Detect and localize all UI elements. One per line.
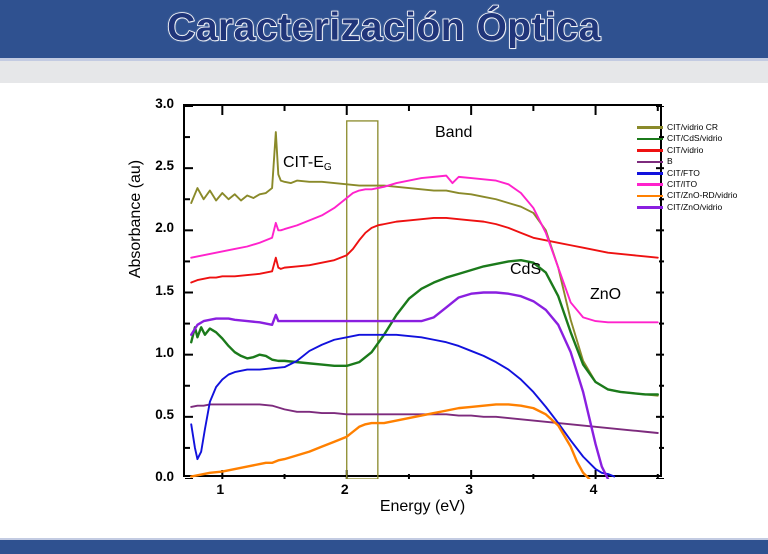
legend-item: CIT/FTO xyxy=(637,168,737,179)
legend-item-label: CIT/ZnO-RD/vidrio xyxy=(667,190,737,201)
absorbance-chart: Absorbance (au) Energy (eV) CIT-EG Band … xyxy=(108,90,708,530)
x-axis-label: Energy (eV) xyxy=(183,498,662,516)
header-grey-band xyxy=(0,61,768,83)
annotation-cds: CdS xyxy=(510,261,541,279)
annotation-band: Band xyxy=(435,124,472,142)
page-title: Caracterización Óptica xyxy=(0,2,768,54)
chart-legend: CIT/vidrio CRCIT/CdS/vidrioCIT/vidrioBCI… xyxy=(637,122,737,213)
x-tick-label: 4 xyxy=(579,481,609,497)
legend-item-label: CIT/CdS/vidrio xyxy=(667,133,722,144)
x-tick-label: 3 xyxy=(454,481,484,497)
annotation-cit-eg: CIT-EG xyxy=(283,154,332,172)
y-tick-label: 1.0 xyxy=(132,345,174,360)
annotation-cit-eg-subscript: G xyxy=(324,162,332,173)
y-tick-label: 3.0 xyxy=(132,96,174,111)
legend-color-swatch xyxy=(637,172,663,175)
legend-color-swatch xyxy=(637,195,663,198)
series-curves xyxy=(191,132,658,479)
legend-item-label: CIT/FTO xyxy=(667,168,700,179)
legend-item-label: CIT/vidrio xyxy=(667,145,703,156)
legend-item: B xyxy=(637,156,737,167)
legend-color-swatch xyxy=(637,206,663,209)
annotation-zno: ZnO xyxy=(590,286,621,304)
legend-item: CIT/ZnO-RD/vidrio xyxy=(637,190,737,201)
legend-color-swatch xyxy=(637,149,663,152)
legend-item: CIT/ZnO/vidrio xyxy=(637,202,737,213)
y-tick-label: 0.0 xyxy=(132,469,174,484)
plot-area: CIT-EG Band CdS ZnO CIT/vidrio CRCIT/CdS… xyxy=(183,104,662,477)
x-tick-label: 2 xyxy=(330,481,360,497)
legend-item-label: CIT/vidrio CR xyxy=(667,122,718,133)
annotation-cit-eg-text: CIT-E xyxy=(283,154,324,171)
x-tick-label: 1 xyxy=(205,481,235,497)
footer-bar xyxy=(0,540,768,554)
legend-item: CIT/vidrio xyxy=(637,145,737,156)
legend-item: CIT/vidrio CR xyxy=(637,122,737,133)
legend-item-label: CIT/ZnO/vidrio xyxy=(667,202,722,213)
legend-item-label: B xyxy=(667,156,673,167)
legend-color-swatch xyxy=(637,126,663,129)
legend-color-swatch xyxy=(637,183,663,186)
y-tick-label: 2.0 xyxy=(132,220,174,235)
legend-color-swatch xyxy=(637,161,663,164)
legend-color-swatch xyxy=(637,138,663,141)
y-tick-label: 0.5 xyxy=(132,407,174,422)
y-tick-label: 2.5 xyxy=(132,158,174,173)
legend-item-label: CIT/ITO xyxy=(667,179,697,190)
legend-item: CIT/CdS/vidrio xyxy=(637,133,737,144)
legend-item: CIT/ITO xyxy=(637,179,737,190)
y-tick-label: 1.5 xyxy=(132,283,174,298)
slide: Caracterización Óptica Absorbance (au) E… xyxy=(0,0,768,554)
